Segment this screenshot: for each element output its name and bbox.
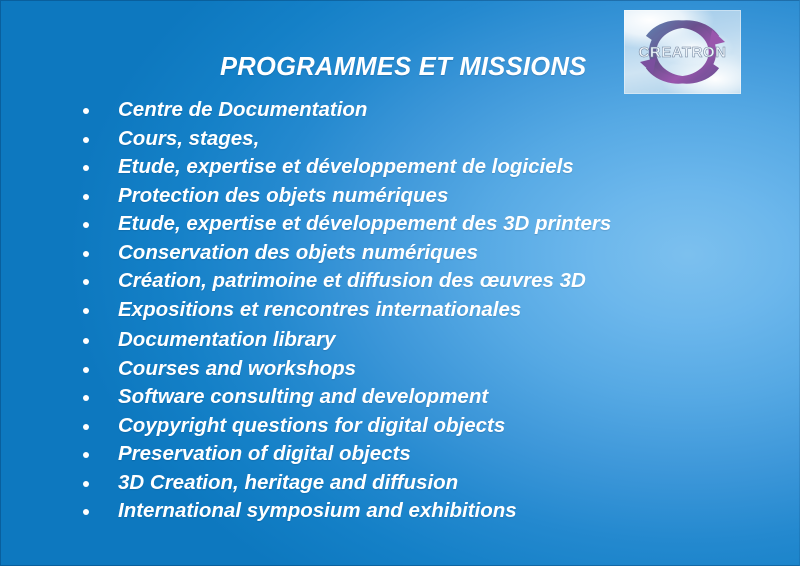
bullet-dot-icon <box>83 137 89 143</box>
list-item-label: International symposium and exhibitions <box>118 499 517 522</box>
bullet-dot-icon <box>83 452 89 458</box>
list-item-label: Documentation library <box>118 328 336 351</box>
list-item: Expositions et rencontres internationale… <box>78 296 611 325</box>
logo-wordmark: CREATRON <box>639 44 727 61</box>
bullet-dot-icon <box>83 308 89 314</box>
list-item-label: Courses and workshops <box>118 357 356 380</box>
list-item: Etude, expertise et développement de log… <box>78 153 611 182</box>
list-item: Coypyright questions for digital objects <box>78 412 517 441</box>
list-item: Protection des objets numériques <box>78 182 611 211</box>
list-item-label: Centre de Documentation <box>118 98 367 121</box>
bullet-dot-icon <box>83 481 89 487</box>
list-item-label: Etude, expertise et développement des 3D… <box>118 212 611 235</box>
list-item-label: Cours, stages, <box>118 127 259 150</box>
bullet-dot-icon <box>83 251 89 257</box>
list-item-label: Expositions et rencontres internationale… <box>118 298 521 321</box>
bullet-dot-icon <box>83 367 89 373</box>
list-item: Conservation des objets numériques <box>78 239 611 268</box>
list-item: Centre de Documentation <box>78 96 611 125</box>
bullet-dot-icon <box>83 424 89 430</box>
list-item-label: 3D Creation, heritage and diffusion <box>118 471 458 494</box>
list-item-label: Software consulting and development <box>118 385 488 408</box>
creatron-logo: CREATRON <box>624 10 741 94</box>
bullet-dot-icon <box>83 108 89 114</box>
bullet-dot-icon <box>83 194 89 200</box>
list-item-label: Conservation des objets numériques <box>118 241 478 264</box>
bullet-dot-icon <box>83 279 89 285</box>
list-item: Création, patrimoine et diffusion des œu… <box>78 267 611 296</box>
list-item: International symposium and exhibitions <box>78 497 517 526</box>
english-bullet-list: Documentation library Courses and worksh… <box>78 326 517 526</box>
presentation-slide: CREATRON PROGRAMMES ET MISSIONS Centre d… <box>0 0 800 566</box>
list-item-label: Etude, expertise et développement de log… <box>118 155 574 178</box>
list-item-label: Création, patrimoine et diffusion des œu… <box>118 269 586 292</box>
slide-title: PROGRAMMES ET MISSIONS <box>220 53 586 82</box>
bullet-dot-icon <box>83 222 89 228</box>
list-item-label: Coypyright questions for digital objects <box>118 414 505 437</box>
bullet-dot-icon <box>83 338 89 344</box>
list-item-label: Protection des objets numériques <box>118 184 448 207</box>
french-bullet-list: Centre de Documentation Cours, stages, E… <box>78 96 611 324</box>
list-item: Documentation library <box>78 326 517 355</box>
bullet-dot-icon <box>83 395 89 401</box>
list-item: Software consulting and development <box>78 383 517 412</box>
list-item-label: Preservation of digital objects <box>118 442 411 465</box>
bullet-dot-icon <box>83 165 89 171</box>
list-item: Courses and workshops <box>78 355 517 384</box>
list-item: 3D Creation, heritage and diffusion <box>78 469 517 498</box>
list-item: Cours, stages, <box>78 125 611 154</box>
list-item: Etude, expertise et développement des 3D… <box>78 210 611 239</box>
bullet-dot-icon <box>83 509 89 515</box>
list-item: Preservation of digital objects <box>78 440 517 469</box>
